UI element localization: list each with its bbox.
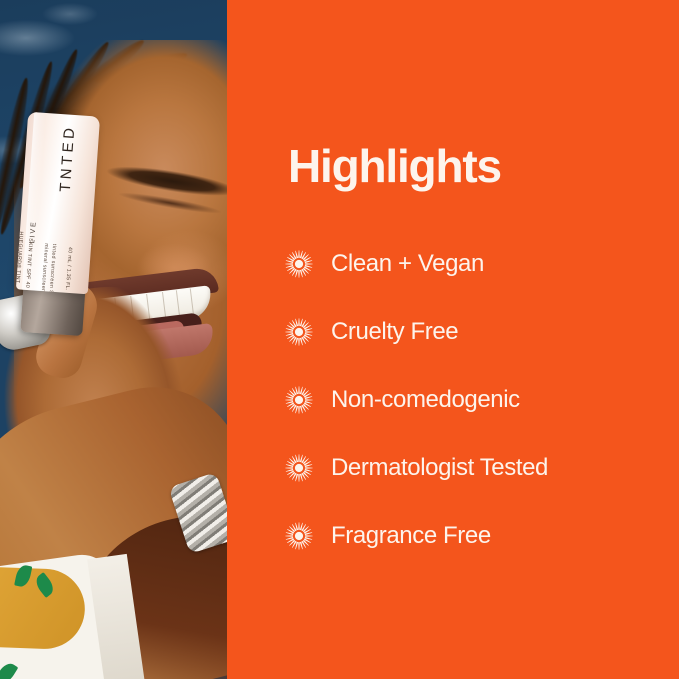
sunburst-icon [285,454,313,482]
list-item-3: Dermatologist Tested [285,434,665,502]
list-item-label: Clean + Vegan [331,250,484,278]
highlights-list: Clean + Vegan Cruelty Free Non-comedogen… [285,230,665,570]
sunburst-icon [285,250,313,278]
sunburst-icon [285,522,313,550]
shirt-leaf-motif [0,660,18,679]
list-item-4: Fragrance Free [285,502,665,570]
list-item-label: Cruelty Free [331,318,458,346]
sunburst-icon [285,318,313,346]
sunburst-icon [285,386,313,414]
list-item-label: Fragrance Free [331,522,491,550]
list-item-1: Cruelty Free [285,298,665,366]
sunscreen-tube: TNTED LIVE HUEGUARD® TINT SKIN TINT SPF … [16,112,100,295]
page-title: Highlights [288,140,501,192]
product-highlights-banner: TNTED LIVE HUEGUARD® TINT SKIN TINT SPF … [0,0,679,679]
tube-product-line-5: 40 mL / 1.35 FL. OZ. [63,247,73,295]
list-item-label: Non-comedogenic [331,386,520,414]
highlights-panel: Highlights Clean + Vegan Cruelty Free No… [227,0,679,679]
list-item-label: Dermatologist Tested [331,454,548,482]
tube-brand-name: TNTED [57,124,79,193]
product-lifestyle-photo: TNTED LIVE HUEGUARD® TINT SKIN TINT SPF … [0,0,227,679]
list-item-0: Clean + Vegan [285,230,665,298]
list-item-2: Non-comedogenic [285,366,665,434]
